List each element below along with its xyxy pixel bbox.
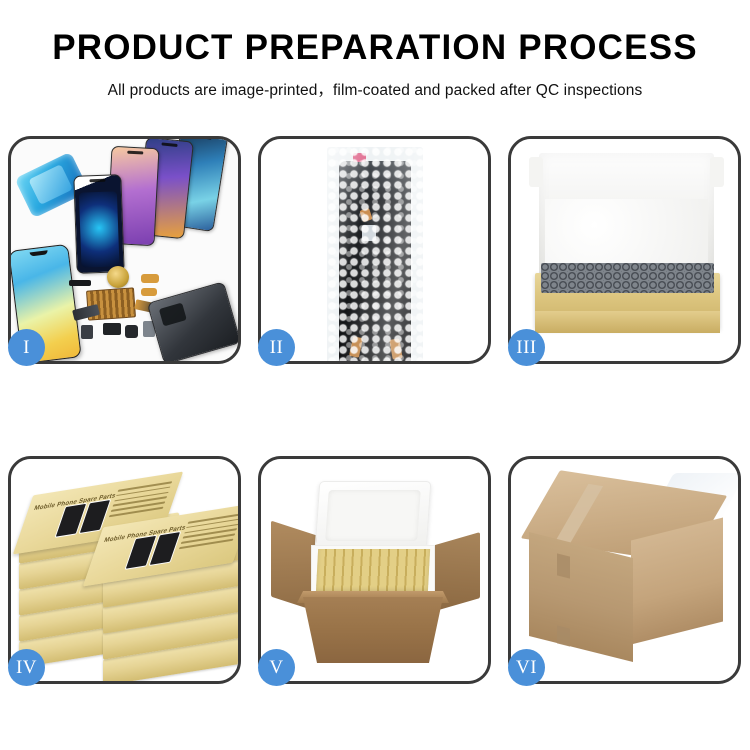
carton-body	[303, 597, 443, 663]
packing-tape-lower	[557, 625, 570, 646]
spare-part	[69, 280, 91, 286]
step-badge-5: V	[258, 649, 295, 686]
step-3-image	[511, 139, 738, 361]
step-4-image: Mobile Phone Spare Parts Mobile Phone Sp…	[11, 459, 238, 681]
step-badge-1: I	[8, 329, 45, 366]
spare-part	[81, 325, 93, 339]
step-panel-3: III	[508, 136, 741, 364]
phone-back-housing-graphic	[147, 281, 238, 361]
step-1-image	[11, 139, 238, 361]
step-badge-4: IV	[8, 649, 45, 686]
step-5-image	[261, 459, 488, 681]
speaker-coil-part	[107, 266, 129, 288]
step-badge-3: III	[508, 329, 545, 366]
styrofoam-lid-graphic	[315, 481, 432, 549]
step-badge-2: II	[258, 329, 295, 366]
phone-screen-fan-graphic	[63, 153, 233, 273]
step-2-image	[261, 139, 488, 361]
carton-side-face	[631, 518, 723, 645]
step-panel-1: I	[8, 136, 241, 364]
kraft-tray-front	[535, 311, 720, 333]
page-header: PRODUCT PREPARATION PROCESS All products…	[0, 0, 750, 100]
step-panel-6: VI	[508, 456, 741, 684]
packing-tape-upper	[557, 553, 570, 578]
step-badge-6: VI	[508, 649, 545, 686]
spare-part	[141, 274, 159, 283]
step-panel-4: Mobile Phone Spare Parts Mobile Phone Sp…	[8, 456, 241, 684]
page-title: PRODUCT PREPARATION PROCESS	[0, 30, 750, 67]
step-panel-5: V	[258, 456, 491, 684]
step-panel-2: II	[258, 136, 491, 364]
plastic-sheen	[327, 147, 423, 361]
spare-part	[141, 288, 157, 296]
process-steps-grid: I II	[8, 136, 742, 684]
bubble-wrap-package-graphic	[327, 147, 423, 361]
spare-part	[103, 323, 121, 335]
page-subtitle: All products are image-printed，film-coat…	[0, 78, 750, 100]
packed-boxes-graphic	[316, 549, 430, 593]
spare-part	[125, 325, 138, 338]
step-6-image	[511, 459, 738, 681]
kraft-box-stack-graphic: Mobile Phone Spare Parts Mobile Phone Sp…	[17, 477, 233, 673]
